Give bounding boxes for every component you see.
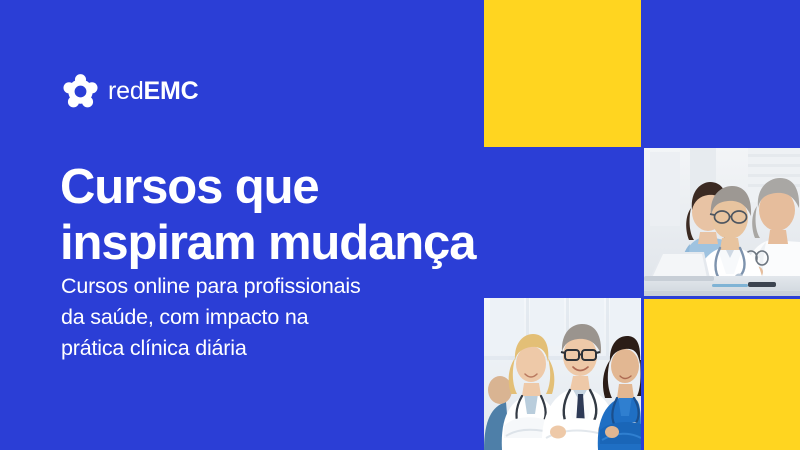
yellow-accent-block-top — [484, 0, 641, 147]
subheadline: Cursos online para profissionais da saúd… — [61, 271, 481, 364]
headline: Cursos que inspiram mudança — [60, 159, 660, 271]
brand-logo[interactable]: redEMC — [62, 72, 199, 110]
photo-medical-team — [484, 298, 641, 450]
headline-line-1: Cursos que — [60, 159, 660, 215]
subheadline-line-3: prática clínica diária — [61, 333, 481, 364]
subheadline-line-2: da saúde, com impacto na — [61, 302, 481, 333]
photo-consultation — [644, 148, 800, 296]
gear-flower-logo-icon — [62, 73, 99, 110]
headline-line-2: inspiram mudança — [60, 215, 660, 271]
yellow-accent-block-bottom — [644, 299, 800, 450]
subheadline-line-1: Cursos online para profissionais — [61, 271, 481, 302]
wordmark-light: red — [108, 77, 144, 105]
banner-canvas: redEMC Cursos que inspiram mudança Curso… — [0, 0, 800, 450]
brand-wordmark: redEMC — [108, 79, 199, 104]
wordmark-bold: EMC — [144, 77, 199, 105]
